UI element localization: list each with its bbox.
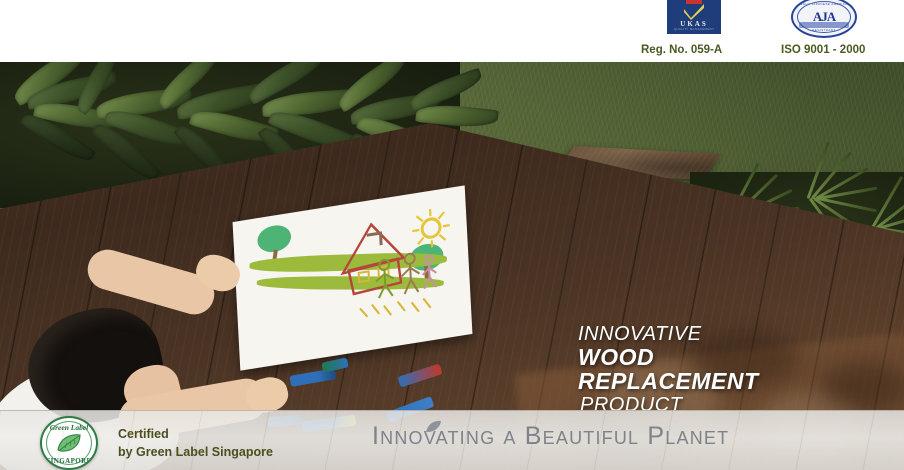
aja-ring-bottom-text: REGISTRARS [793, 28, 855, 32]
ukas-registration-caption: Reg. No. 059-A [641, 44, 722, 56]
certified-line-1: Certified [118, 425, 273, 443]
tagline-text: Innovating a Beautiful Planet [372, 422, 729, 450]
hero-banner: INNOVATIVE WOOD REPLACEMENT PRODUCT Gree… [0, 62, 904, 470]
page-root: UKAS QUALITY MANAGEMENT ANGLO JAPANESE A… [0, 0, 904, 470]
checkmark-icon [683, 4, 705, 20]
green-label-arc-bottom: SINGAPORE [42, 457, 96, 465]
drawing-sun [409, 204, 453, 253]
certification-strip: UKAS QUALITY MANAGEMENT ANGLO JAPANESE A… [0, 0, 904, 62]
headline-line-3: REPLACEMENT [578, 370, 759, 393]
green-label-singapore-icon: Green Label SINGAPORE [40, 416, 98, 470]
headline-line-1: INNOVATIVE [578, 324, 759, 344]
ukas-subtext: QUALITY MANAGEMENT [667, 27, 721, 31]
green-label-arc-top: Green Label [42, 423, 96, 432]
headline-line-2: WOOD [578, 346, 759, 369]
ukas-icon: UKAS QUALITY MANAGEMENT [667, 0, 721, 34]
leaf-icon [56, 433, 82, 453]
seal-inner-ring [46, 421, 92, 465]
iso-standard-caption: ISO 9001 - 2000 [781, 44, 865, 56]
drawing-scribbles [356, 291, 436, 332]
leaf-accent-icon [425, 420, 442, 433]
certified-line-2: by Green Label Singapore [118, 443, 273, 461]
certified-text: Certified by Green Label Singapore [118, 425, 273, 461]
leaf-shadow [820, 362, 904, 412]
aja-ring-top-text: ANGLO JAPANESE AMERICAN [793, 2, 855, 6]
footer-bar: Green Label SINGAPORE Certified by Green… [0, 410, 904, 470]
hero-headline: INNOVATIVE WOOD REPLACEMENT PRODUCT [578, 324, 759, 416]
tagline: Innovating a Beautiful Planet [372, 422, 729, 451]
aja-icon: ANGLO JAPANESE AMERICAN AJA REGISTRARS [791, 0, 857, 38]
